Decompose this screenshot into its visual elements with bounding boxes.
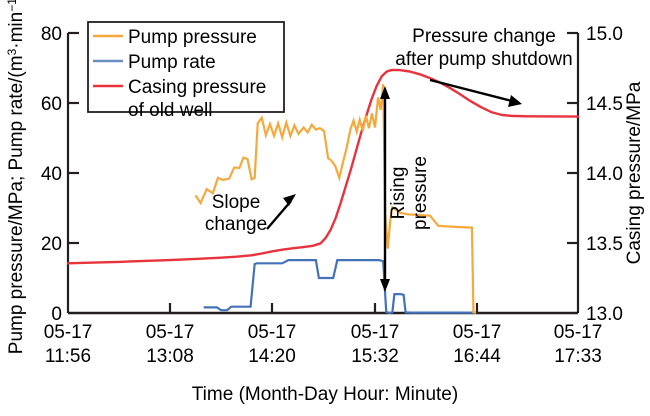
series-line-pump-rate — [204, 260, 476, 313]
legend-label-pump-pressure: Pump pressure — [128, 27, 257, 48]
slope-change-line2: change — [205, 214, 267, 235]
annotation-pressure-change-after-shutdown: Pressure change after pump shutdown — [395, 26, 572, 107]
x-axis-tick-labels: 05-17 11:56 05-17 13:08 05-17 14:20 05-1… — [44, 322, 603, 367]
y-right-tick-15-0: 15.0 — [586, 24, 623, 45]
y-left-title-part1: Pump pressure/MPa; Pump rate/(m — [6, 55, 27, 354]
annotation-slope-change: Slope change — [205, 192, 296, 235]
y-left-title-part2: ·min — [6, 12, 27, 49]
x-tick-2-date: 05-17 — [248, 322, 297, 343]
pressure-change-line2: after pump shutdown — [395, 49, 572, 70]
y-left-tick-60: 60 — [41, 94, 62, 115]
rising-pressure-line1: Rising — [388, 167, 409, 220]
chart-canvas: 0 20 40 60 80 13.0 13.5 14.0 14.5 15.0 0… — [0, 0, 650, 416]
chart-figure: 0 20 40 60 80 13.0 13.5 14.0 14.5 15.0 0… — [0, 0, 650, 416]
annotation-rising-pressure: Rising pressure — [380, 86, 431, 292]
x-tick-2-time: 14:20 — [248, 346, 296, 367]
y-axis-left-title: Pump pressure/MPa; Pump rate/(m3·min−1) — [5, 0, 27, 354]
x-tick-5-date: 05-17 — [554, 322, 603, 343]
x-tick-3-time: 15:32 — [351, 346, 399, 367]
y-axis-left-tick-labels: 0 20 40 60 80 — [41, 24, 62, 325]
y-left-title-sup2: −1 — [5, 0, 19, 12]
x-tick-3-date: 05-17 — [351, 322, 400, 343]
y-right-tick-14-0: 14.0 — [586, 164, 623, 185]
y-axis-right-tick-labels: 13.0 13.5 14.0 14.5 15.0 — [586, 24, 623, 325]
y-left-tick-40: 40 — [41, 164, 62, 185]
y-right-tick-13-5: 13.5 — [586, 234, 623, 255]
legend-label-casing-pressure-line2: of old well — [128, 100, 213, 121]
x-tick-1-date: 05-17 — [146, 322, 195, 343]
legend: Pump pressure Pump rate Casing pressure … — [88, 22, 284, 121]
y-left-tick-80: 80 — [41, 24, 62, 45]
slope-change-arrow-icon — [267, 194, 296, 229]
rising-pressure-line2: pressure — [410, 156, 431, 230]
x-tick-4-time: 16:44 — [453, 346, 501, 367]
slope-change-line1: Slope — [212, 192, 261, 213]
y-left-tick-20: 20 — [41, 234, 62, 255]
y-axis-right-title: Casing pressure/MPa — [624, 81, 645, 264]
y-right-tick-14-5: 14.5 — [586, 94, 623, 115]
pressure-change-line1: Pressure change — [412, 26, 556, 47]
legend-label-casing-pressure-line1: Casing pressure — [128, 77, 266, 98]
x-tick-4-date: 05-17 — [453, 322, 502, 343]
x-tick-1-time: 13:08 — [146, 346, 194, 367]
legend-label-pump-rate: Pump rate — [128, 52, 216, 73]
x-tick-0-date: 05-17 — [44, 322, 93, 343]
x-axis-title: Time (Month-Day Hour: Minute) — [192, 384, 458, 405]
x-tick-0-time: 11:56 — [45, 346, 91, 367]
x-tick-5-time: 17:33 — [554, 346, 602, 367]
